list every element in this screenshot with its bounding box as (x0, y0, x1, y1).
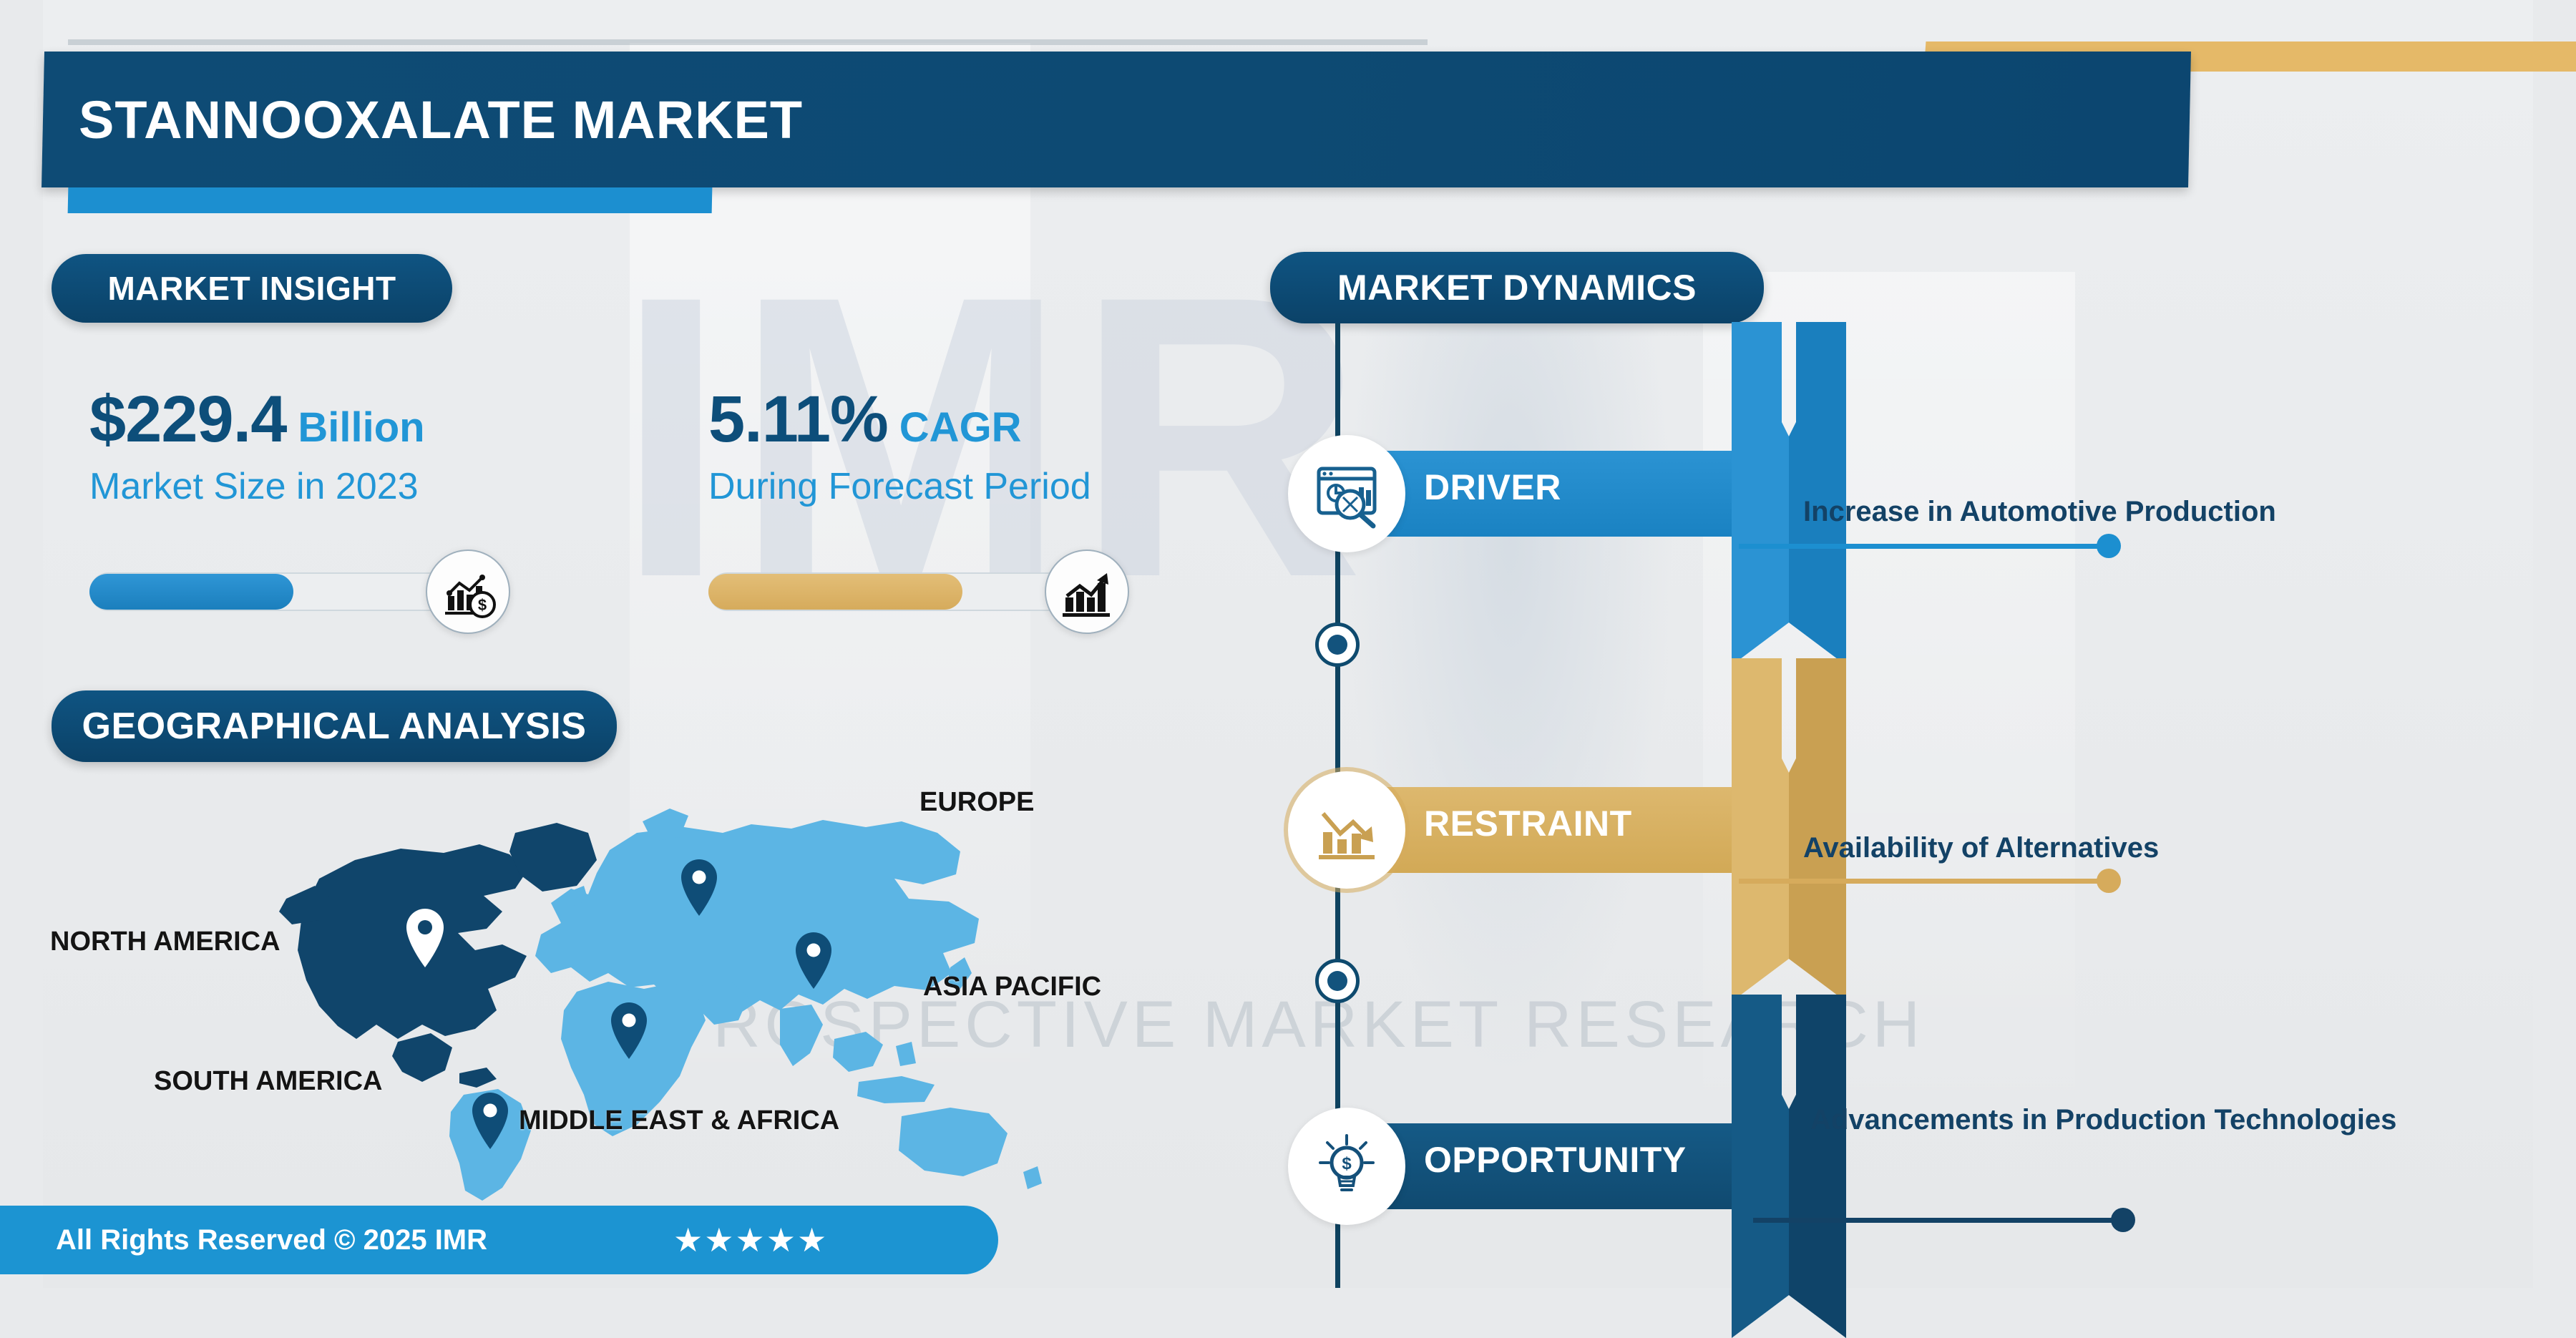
growth-arrow-icon (1045, 550, 1129, 634)
lightbulb-dollar-icon: $ (1288, 1108, 1405, 1225)
opportunity-chevron-icon (1732, 995, 1846, 1338)
cagr-caption: During Forecast Period (708, 465, 1281, 508)
market-size-progress: $ (89, 565, 462, 618)
region-label-north-america: NORTH AMERICA (50, 927, 280, 957)
restraint-text: Availability of Alternatives (1803, 830, 2447, 866)
header-top-rule (68, 39, 1428, 45)
infographic-canvas: IMR INTROSPECTIVE MARKET RESEARCH STANNO… (0, 0, 2576, 1288)
market-size-unit: Billion (298, 404, 424, 451)
region-australia (899, 1108, 1008, 1176)
market-size-value: $229.4 (89, 383, 286, 456)
svg-text:$: $ (1342, 1154, 1352, 1173)
restraint-connector (1739, 879, 2118, 884)
region-philippines (896, 1042, 916, 1066)
progress-fill (89, 574, 293, 610)
bar-chart-dollar-icon: $ (426, 550, 510, 634)
region-label-middle-east-africa: MIDDLE EAST & AFRICA (519, 1105, 839, 1136)
region-caribbean (459, 1068, 497, 1088)
background-highlight-3 (1345, 308, 1674, 1080)
restraint-label: RESTRAINT (1424, 803, 1632, 844)
copyright-text: All Rights Reserved © 2025 IMR (56, 1224, 487, 1256)
region-southeast-asia (833, 1032, 883, 1072)
driver-text: Increase in Automotive Production (1803, 494, 2447, 529)
region-label-europe: EUROPE (919, 787, 1034, 818)
footer-bar: All Rights Reserved © 2025 IMR ★★★★★ (0, 1206, 998, 1274)
region-mexico-central (392, 1033, 452, 1082)
region-greenland (509, 823, 597, 892)
timeline-node-1 (1315, 622, 1360, 667)
progress-fill (708, 574, 962, 610)
market-size-caption: Market Size in 2023 (89, 465, 662, 508)
rating-stars: ★★★★★ (673, 1221, 828, 1259)
cagr-progress (708, 565, 1080, 618)
chart-search-icon (1288, 435, 1405, 552)
restraint-endpoint-dot (2097, 869, 2121, 893)
opportunity-text: Advancements in Production Technologies (1810, 1102, 2454, 1138)
cagr-value: 5.11% (708, 383, 888, 456)
opportunity-connector (1753, 1218, 2132, 1223)
declining-bar-chart-icon (1288, 771, 1405, 889)
region-label-south-america: SOUTH AMERICA (154, 1066, 382, 1097)
market-insight-pill: MARKET INSIGHT (52, 254, 452, 323)
driver-label: DRIVER (1424, 467, 1561, 508)
driver-connector (1739, 544, 2118, 549)
opportunity-endpoint-dot (2111, 1208, 2135, 1232)
region-india (780, 1005, 823, 1066)
geographical-analysis-pill: GEOGRAPHICAL ANALYSIS (52, 690, 617, 762)
stat-cagr: 5.11%CAGR During Forecast Period (708, 386, 1281, 508)
driver-endpoint-dot (2097, 534, 2121, 558)
header-blue-accent (68, 187, 713, 213)
timeline-node-2 (1315, 959, 1360, 1003)
stat-market-size: $229.4Billion Market Size in 2023 (89, 386, 662, 508)
market-dynamics-pill: MARKET DYNAMICS (1270, 252, 1764, 323)
page-title: STANNOOXALATE MARKET (79, 84, 1796, 156)
region-label-asia-pacific: ASIA PACIFIC (923, 972, 1101, 1002)
region-new-zealand (1023, 1166, 1042, 1189)
opportunity-label: OPPORTUNITY (1424, 1139, 1687, 1181)
region-indonesia (857, 1076, 935, 1103)
cagr-unit: CAGR (899, 404, 1022, 451)
svg-text:$: $ (478, 596, 487, 614)
